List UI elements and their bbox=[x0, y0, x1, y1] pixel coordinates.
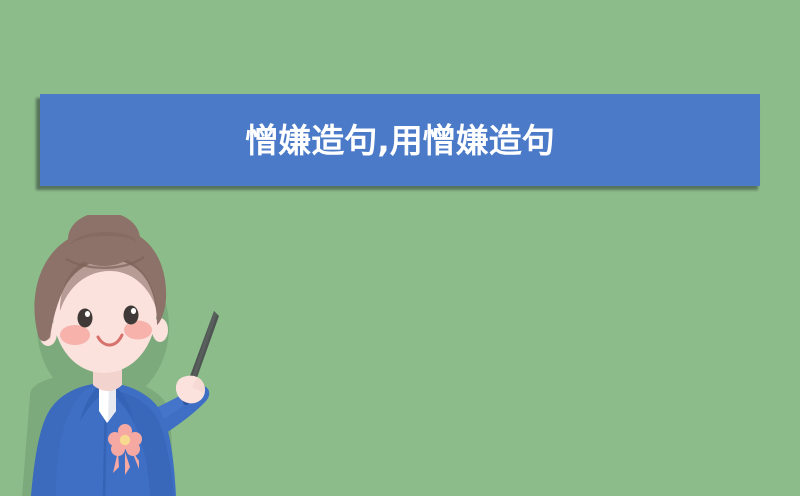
title-banner: 憎嫌造句,用憎嫌造句 bbox=[40, 94, 760, 186]
screenshot-canvas: 憎嫌造句,用憎嫌造句 bbox=[0, 0, 800, 496]
eye-right bbox=[124, 306, 139, 325]
cheek-left bbox=[60, 325, 90, 345]
badge-center bbox=[120, 435, 130, 445]
eye-left bbox=[78, 309, 93, 328]
page-title: 憎嫌造句,用憎嫌造句 bbox=[245, 124, 555, 157]
teacher-illustration bbox=[0, 215, 260, 496]
